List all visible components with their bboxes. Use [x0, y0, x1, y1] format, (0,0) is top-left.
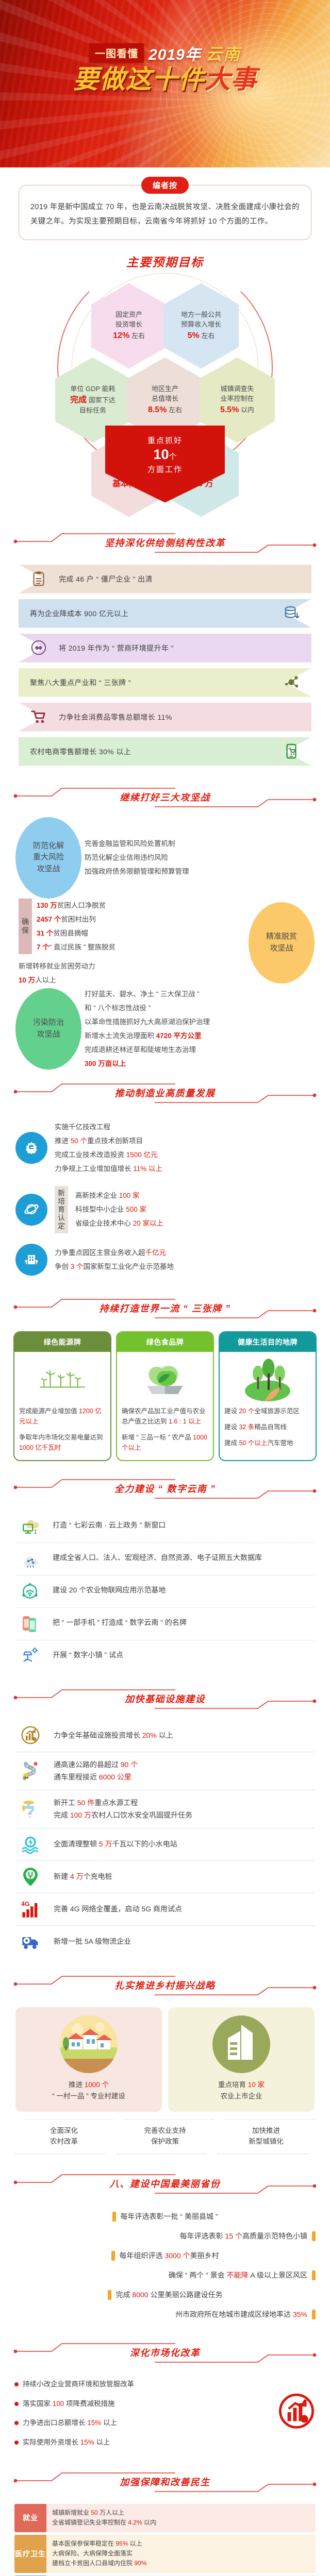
bullet-text: 州市政府所在地城市建成区绿地率达 35% — [175, 2309, 307, 2319]
table-row-key: 医疗卫生 — [14, 2535, 46, 2573]
brand-card-title: 绿色食品牌 — [117, 1332, 213, 1352]
bullet-row: 完成 8000 公里美丽公路建设任务 — [14, 2285, 316, 2304]
section-title: 持续打造世界一流 “ 三张牌 ” — [99, 1301, 230, 1315]
section-header: 坚持深化供给侧结构性改革 — [0, 528, 330, 560]
battle-line: 以革命性措施抓好九大高原湖泊保护治理 — [85, 1015, 311, 1029]
brand-card-body: 完成能源产业增加值 1200 亿元以上争取年内市场化交易电量达到 1000 亿千… — [14, 1401, 110, 1460]
battle-item: 防范化解重大风险攻坚战完善金融监管和风险处置机制防范化解企业信用违约风险加强政府… — [15, 817, 315, 899]
digital-row-icon — [15, 1550, 44, 1568]
section-title: 继续打好三大攻坚战 — [120, 790, 210, 804]
arrow-bar-icon — [19, 571, 59, 587]
section-s3: 推动制造业高质量发展实施千亿技改工程推进 50 个重点技术创新项目完成工业技术改… — [0, 1078, 330, 1286]
bullet-text: 完成 8000 公里美丽公路建设任务 — [116, 2290, 223, 2300]
infra-row-text: 力争全年基础设施投资增长 20% 以上 — [54, 1729, 173, 1742]
bullet-row: 确保 “ 两个 ” 景会 不能降 A 级以上景区风区 — [14, 2265, 316, 2285]
logistics-truck-icon — [21, 1932, 40, 1952]
section-s2: 继续打好三大攻坚战防范化解重大风险攻坚战完善金融监管和风险处置机制防范化解企业信… — [0, 782, 330, 1071]
bullet-row: 每年组织评选 3000 个美丽乡村 — [14, 2246, 316, 2265]
bullet-tick — [312, 2310, 316, 2319]
infra-list: 力争全年基础设施投资增长 20% 以上通高速公路的县超过 90 个通车里程接近 … — [0, 1719, 330, 1963]
battle-name: 精准脱贫攻坚战 — [266, 931, 297, 954]
digital-row: 打造 “ 七彩云南 · 云上政务 ” 新窗口 — [15, 1511, 315, 1543]
infra-row: 新开工 50 件重点水源工程完成 100 万农村人口饮水安全巩固提升任务 — [15, 1790, 315, 1828]
network-icon — [283, 674, 300, 691]
section-s6: 加快基础设施建设力争全年基础设施投资增长 20% 以上通高速公路的县超过 90 … — [0, 1684, 330, 1963]
section-header: 推动制造业高质量发展 — [0, 1078, 330, 1110]
clipboard-icon — [30, 571, 47, 587]
arrow-bar-icon — [271, 674, 311, 691]
digital-row: 开展 “ 数字小镇 ” 试点 — [15, 1640, 315, 1672]
brand-card-line: 完成能源产业增加值 1200 亿元以上 — [19, 1406, 106, 1427]
digital-row-icon — [15, 1647, 44, 1666]
battle-line: 打好蓝天、碧水、净土 “ 三大保卫战 ”和 “ 八个标志性战役 ” — [85, 987, 311, 1015]
battle-blob: 防范化解重大风险攻坚战 — [15, 817, 81, 899]
gear-row-body: 实施千亿技改工程推进 50 个重点技术创新项目完成工业技术改造投资 1500 亿… — [55, 1120, 162, 1176]
section-header: 八、建设中国最美丽省份 — [0, 2168, 330, 2200]
hero-place: 云南 — [206, 41, 241, 65]
reform-line: 力争进出口总额增长 15% 以上 — [14, 2413, 272, 2433]
section-s7: 扎实推进乡村振兴战略推进 1000 个“ 一村一品 ” 专业村建设重点培育 10… — [0, 1970, 330, 2162]
infra-row-icon — [15, 1761, 45, 1781]
arrow-bar-icon — [19, 709, 59, 725]
brand-card-line: 建设 20 个全域旅游示范区 — [224, 1406, 311, 1416]
goal-hex: 固定资产投资增长12% 左右 — [91, 283, 167, 369]
digital-row: 建成全省人口、法人、宏观经济、自然资源、电子证照五大数据库 — [15, 1543, 315, 1575]
table-cell: 城镇新增就业 50 万人以上 — [52, 2508, 310, 2518]
arrow-bar-text: 再为企业降成本 900 亿元以上 — [30, 608, 129, 619]
arrow-bar-item: 完成 46 户 “ 僵尸企业 ” 出清 — [19, 565, 311, 594]
section-header: 深化市场化改革 — [0, 2337, 330, 2369]
digital-row: 建设 20 个农业物联网应用示范基地 — [15, 1575, 315, 1608]
infra-row-text: 通高速公路的县超过 90 个通车里程接近 6000 公里 — [54, 1758, 138, 1784]
digital-row: 把 “ 一部手机 ” 打造成 “ 数字云南 ” 的名牌 — [15, 1608, 315, 1640]
digital-row-icon — [15, 1517, 44, 1536]
planet-icon — [23, 1201, 40, 1218]
rural-card: 重点培育 10 家农业上市企业 — [168, 2007, 315, 2112]
battle-blob: 污染防治攻坚战 — [15, 988, 81, 1070]
table-row: 医疗卫生基本医保参保率稳定在 95% 以上大病保险、大病保障全面落实建档立卡贫困… — [14, 2535, 316, 2573]
digital-row-text: 建成全省人口、法人、宏观经济、自然资源、电子证照五大数据库 — [53, 1550, 262, 1564]
section-s9: 深化市场化改革持续小改企业营商环境和放管服改革落实国家 100 项降费减税措施力… — [0, 2337, 330, 2459]
infra-row-text: 完善 4G 网络全覆盖，启动 5G 商用试点 — [54, 1903, 182, 1916]
svg-text:4G: 4G — [21, 1900, 29, 1907]
brand-card-line: 建设 32 条精品自驾线 — [224, 1422, 311, 1432]
brand-card: 健康生活目的地牌建设 20 个全域旅游示范区建设 32 条精品自驾线建成 50 … — [219, 1331, 317, 1461]
section-title: 八、建设中国最美丽省份 — [110, 2177, 221, 2190]
battle-blob: 精准脱贫攻坚战 — [249, 902, 315, 984]
three-cards: 绿色能源牌完成能源产业增加值 1200 亿元以上争取年内市场化交易电量达到 10… — [0, 1328, 330, 1466]
infra-row: 全面清理整顿 5 万千瓦以下的小水电站 — [15, 1828, 315, 1861]
arrow-bar-icon — [271, 743, 311, 760]
section-header: 全力建设 “ 数字云南 ” — [0, 1473, 330, 1505]
hero-banner: 一图看懂 2019年 云南 要做这十件大事 — [0, 0, 330, 167]
arrow-bar-text: 聚焦八大重点产业和 “ 三张牌 ” — [30, 677, 131, 688]
gear-row-icon — [15, 1194, 47, 1226]
brand-card-image — [220, 1352, 316, 1401]
cta-line3: 方面工作 — [105, 464, 225, 474]
table-row-key: 就业 — [14, 2504, 46, 2532]
battle-lines: 确保130 万贫困人口净脱贫2457 个贫困村出列31 个贫困县摘帽7 个“ 直… — [15, 899, 249, 987]
cta-line1: 重点抓好 — [105, 435, 225, 446]
gear-line: 力争规上工业增加值增长 11% 以上 — [55, 1162, 162, 1176]
battle-item: 污染防治攻坚战打好蓝天、碧水、净土 “ 三大保卫战 ”和 “ 八个标志性战役 ”… — [15, 987, 315, 1071]
gear-row-icon — [15, 1244, 47, 1276]
brand-card: 绿色食品牌确保农产品加工业产值与农业总产值之比达到 1.6 : 1 以上新增 “… — [116, 1331, 214, 1461]
gear-line: 争创 3 个国家新型工业化产业示范基地 — [55, 1260, 174, 1274]
section-s1: 坚持深化供给侧结构性改革完成 46 户 “ 僵尸企业 ” 出清再为企业降成本 9… — [0, 528, 330, 775]
arrow-bar-text: 力争社会消费品零售总额增长 11% — [59, 712, 172, 722]
agri-company-icon — [212, 2015, 270, 2073]
battle-lines: 完善金融监管和风险处置机制防范化解企业信用违约风险加强政府债务限额管理和预算管理 — [81, 837, 315, 878]
mobile-cart-icon — [283, 743, 300, 760]
brand-card-line: 建成 50 个以上汽车营地 — [224, 1438, 311, 1448]
iot-icon — [21, 1582, 39, 1601]
infra-row-icon — [15, 1867, 45, 1887]
arrow-bar-text: 将 2019 年作为 “ 营商环境提升年 ” — [59, 643, 174, 653]
confirm-line: 130 万贫困人口净脱贫 — [37, 899, 115, 912]
arrow-bar-icon — [271, 605, 311, 622]
reform-line: 实际使用外资增长 15% 以上 — [14, 2433, 272, 2452]
coins-icon — [283, 605, 300, 622]
table-row-value: 基本医保参保率稳定在 95% 以上大病保险、大病保障全面落实建档立卡贫困人口县域… — [46, 2535, 316, 2573]
hero-badge: 一图看懂 — [89, 43, 144, 63]
gear-line: 力争重点园区主营业务收入超千亿元 — [55, 1246, 174, 1260]
brand-card-title: 绿色能源牌 — [14, 1332, 110, 1352]
section-title: 深化市场化改革 — [130, 2346, 201, 2359]
digital-row-text: 建设 20 个农业物联网应用示范基地 — [53, 1582, 166, 1597]
confirm-line: 31 个贫困县摘帽 — [37, 926, 115, 940]
infra-row-text: 新增一批 5A 级物流企业 — [54, 1935, 131, 1948]
battle-name: 防范化解重大风险攻坚战 — [33, 840, 64, 875]
village-icon — [60, 2015, 118, 2073]
battle-extra: 新增转移就业贫困劳动力10 万人以上 — [19, 959, 245, 987]
digital-list: 打造 “ 七彩云南 · 云上政务 ” 新窗口建成全省人口、法人、宏观经济、自然资… — [0, 1509, 330, 1676]
signal-4g-icon: 4G — [21, 1900, 40, 1919]
battle-line: 完成退耕还林还草和陡坡地生态治理300 万亩以上 — [85, 1043, 311, 1071]
hero-year: 2019年 — [148, 42, 201, 64]
infra-row-icon — [15, 1835, 45, 1854]
gear-row-body: 力争重点园区主营业务收入超千亿元争创 3 个国家新型工业化产业示范基地 — [55, 1246, 174, 1274]
hydro-icon — [21, 1835, 40, 1854]
reform-block: 持续小改企业营商环境和放管服改革落实国家 100 项降费减税措施力争进出口总额增… — [0, 2372, 330, 2459]
gear-line: 科技型中小企业 500 家 — [75, 1202, 163, 1216]
infra-row-icon — [15, 1799, 45, 1819]
gear-line: 推进 50 个重点技术创新项目 — [55, 1134, 162, 1148]
cloud-monitor-icon — [21, 1517, 39, 1536]
bullet-row: 州市政府所在地城市建成区绿地率达 35% — [14, 2304, 316, 2324]
bullet-row: 每年评选表彰一批 “ 美丽县城 ” — [14, 2207, 316, 2226]
section-title: 加快基础设施建设 — [125, 1692, 205, 1705]
digital-row-icon — [15, 1582, 44, 1601]
gear-row: 力争重点园区主营业务收入超千亿元争创 3 个国家新型工业化产业示范基地 — [15, 1239, 315, 1281]
arrow-bar-item: 农村电商零售额增长 30% 以上 — [19, 737, 311, 766]
editor-note: 编者按 2019 年是新中国成立 70 年，也是云南决战脱贫攻坚、决胜全面建成小… — [19, 185, 311, 240]
arrow-bar-item: 聚焦八大重点产业和 “ 三张牌 ” — [19, 668, 311, 697]
section-s10: 加强保障和改善民生就业城镇新增就业 50 万人以上全省城镇登记失业率控制在 4.… — [0, 2467, 330, 2576]
charging-pin-icon — [21, 1867, 40, 1887]
building-icon — [23, 1251, 40, 1268]
bullet-text: 每年评选表彰 15 个高质量示范特色小镇 — [180, 2231, 307, 2241]
section-s8: 八、建设中国最美丽省份每年评选表彰一批 “ 美丽县城 ”每年评选表彰 15 个高… — [0, 2168, 330, 2330]
arrow-bar-item: 再为企业降成本 900 亿元以上 — [19, 599, 311, 628]
cta-count: 10 — [153, 447, 169, 462]
faucet-icon — [21, 1799, 40, 1819]
table-cell: 大病保险、大病保障全面落实 — [52, 2549, 310, 2558]
gear-row-body: 高新技术企业 100 家科技型中小企业 500 家省级企业技术中心 20 家以上 — [75, 1189, 163, 1230]
section-header: 扎实推进乡村振兴战略 — [0, 1970, 330, 2002]
bullet-list: 每年评选表彰一批 “ 美丽县城 ”每年评选表彰 15 个高质量示范特色小镇每年组… — [0, 2204, 330, 2330]
reform-lines: 持续小改企业营商环境和放管服改革落实国家 100 项降费减税措施力争进出口总额增… — [14, 2375, 272, 2452]
digital-row-icon — [15, 1615, 44, 1633]
bullet-tick — [108, 2290, 111, 2300]
gear-line: 高新技术企业 100 家 — [75, 1189, 163, 1202]
brand-card-body: 确保农产品加工业产值与农业总产值之比达到 1.6 : 1 以上新增 “ 三品一标… — [117, 1401, 213, 1460]
handshake-icon — [30, 640, 47, 656]
section-s5: 全力建设 “ 数字云南 ”打造 “ 七彩云南 · 云上政务 ” 新窗口建成全省人… — [0, 1473, 330, 1676]
wind-turbines-icon — [40, 1356, 85, 1401]
cloud-data-icon — [21, 1550, 39, 1568]
infra-row-icon — [15, 1726, 45, 1745]
rural-chip: 全面深化农村改革 — [15, 2119, 112, 2154]
table-row: 就业城镇新增就业 50 万人以上全省城镇登记失业率控制在 4.2% 以内 — [14, 2504, 316, 2532]
infra-row: 新建 4 万个充电桩 — [15, 1861, 315, 1893]
section-s4: 持续打造世界一流 “ 三张牌 ”绿色能源牌完成能源产业增加值 1200 亿元以上… — [0, 1293, 330, 1466]
battle-line: 完善金融监管和风险处置机制 — [85, 837, 311, 851]
brand-card-line: 争取年内市场化交易电量达到 1000 亿千瓦时 — [19, 1432, 106, 1453]
confirm-tab: 确保 — [19, 899, 32, 954]
cart-icon — [30, 709, 47, 725]
hero-headline-a: 要做这十件 — [73, 65, 205, 94]
battle-line: 新增水土流失治理面积 4720 平方公里 — [85, 1029, 311, 1043]
infographic-page: 一图看懂 2019年 云南 要做这十件大事 编者按 2019 年是新中国成立 7… — [0, 0, 330, 2576]
bullet-text: 每年评选表彰一批 “ 美丽县城 ” — [121, 2211, 218, 2222]
table-cell: 基本医保参保率稳定在 95% 以上 — [52, 2539, 310, 2549]
smart-town-icon — [21, 1647, 39, 1666]
goals-title: 主要预期目标 — [0, 252, 330, 270]
arrow-bar-item: 力争社会消费品零售总额增长 11% — [19, 703, 311, 732]
infra-row: 通高速公路的县超过 90 个通车里程接近 6000 公里 — [15, 1752, 315, 1790]
arrow-bar-list: 完成 46 户 “ 僵尸企业 ” 出清再为企业降成本 900 亿元以上将 201… — [0, 563, 330, 775]
gear-icon — [23, 1139, 40, 1157]
sections-container: 坚持深化供给侧结构性改革完成 46 户 “ 僵尸企业 ” 出清再为企业降成本 9… — [0, 528, 330, 2576]
rural-card-caption: 推进 1000 个“ 一村一品 ” 专业村建设 — [21, 2079, 157, 2103]
cta-unit: 个 — [169, 452, 177, 461]
rural-card-image — [212, 2015, 270, 2073]
section-title: 推动制造业高质量发展 — [115, 1086, 216, 1099]
infra-row: 4G完善 4G 网络全覆盖，启动 5G 商用试点 — [15, 1893, 315, 1926]
rural-chip: 完善农业支持保护政策 — [117, 2119, 213, 2154]
vegetables-icon — [142, 1356, 188, 1401]
reform-chart-icon — [277, 2393, 316, 2434]
rural-cards: 推进 1000 个“ 一村一品 ” 专业村建设重点培育 10 家农业上市企业 — [0, 2005, 330, 2119]
gear-row-tab: 新培育认定 — [55, 1186, 68, 1233]
highway-icon — [21, 1761, 40, 1781]
battles-list: 防范化解重大风险攻坚战完善金融监管和风险处置机制防范化解企业信用违约风险加强政府… — [0, 817, 330, 1071]
brand-card-image — [117, 1352, 213, 1401]
battle-line: 防范化解企业信用违约风险 — [85, 851, 311, 865]
section-title: 扎实推进乡村振兴战略 — [115, 1978, 216, 1992]
battle-lines: 打好蓝天、碧水、净土 “ 三大保卫战 ”和 “ 八个标志性战役 ”以革命性措施抓… — [81, 987, 315, 1071]
section-header: 加强保障和改善民生 — [0, 2467, 330, 2499]
livelihood-table: 就业城镇新增就业 50 万人以上全省城镇登记失业率控制在 4.2% 以内医疗卫生… — [0, 2502, 330, 2576]
section-title: 加强保障和改善民生 — [120, 2475, 210, 2488]
infra-row-text: 新开工 50 件重点水源工程完成 100 万农村人口饮水安全巩固提升任务 — [54, 1797, 192, 1822]
trees-icon — [245, 1356, 290, 1401]
table-row-value: 城镇新增就业 50 万人以上全省城镇登记失业率控制在 4.2% 以内 — [46, 2504, 316, 2532]
digital-row-text: 打造 “ 七彩云南 · 云上政务 ” 新窗口 — [53, 1517, 166, 1532]
hero-headline-b: 大事 — [205, 65, 257, 94]
growth-chart-icon — [21, 1726, 40, 1745]
goal-hex: 地方一般公共预算收入增长5% 左右 — [163, 283, 239, 369]
brand-card-body: 建设 20 个全域旅游示范区建设 32 条精品自驾线建成 50 个以上汽车营地 — [220, 1401, 316, 1455]
digital-row-text: 把 “ 一部手机 ” 打造成 “ 数字云南 ” 的名牌 — [53, 1615, 187, 1629]
brand-card-image — [14, 1352, 110, 1401]
bullet-tick — [112, 2212, 116, 2222]
arrow-bar-text: 农村电商零售额增长 30% 以上 — [30, 747, 131, 757]
infra-row-text: 全面清理整顿 5 万千瓦以下的小水电站 — [54, 1838, 177, 1851]
brand-card: 绿色能源牌完成能源产业增加值 1200 亿元以上争取年内市场化交易电量达到 10… — [13, 1331, 111, 1461]
gear-row: 实施千亿技改工程推进 50 个重点技术创新项目完成工业技术改造投资 1500 亿… — [15, 1115, 315, 1181]
bullet-text: 每年组织评选 3000 个美丽乡村 — [120, 2250, 219, 2261]
brand-card-title: 健康生活目的地牌 — [220, 1332, 316, 1352]
battle-line: 加强政府债务限额管理和预算管理 — [85, 865, 311, 878]
section-header: 持续打造世界一流 “ 三张牌 ” — [0, 1293, 330, 1325]
brand-card-line: 确保农产品加工业产值与农业总产值之比达到 1.6 : 1 以上 — [122, 1406, 208, 1427]
confirm-box: 确保130 万贫困人口净脱贫2457 个贫困村出列31 个贫困县摘帽7 个“ 直… — [19, 899, 245, 954]
two-phones-icon — [21, 1615, 39, 1633]
bullet-row: 每年评选表彰 15 个高质量示范特色小镇 — [14, 2226, 316, 2246]
battle-name: 污染防治攻坚战 — [33, 1017, 64, 1040]
goals-hex-row: 固定资产投资增长12% 左右地方一般公共预算收入增长5% 左右 — [57, 283, 273, 369]
main-goals: 主要预期目标 固定资产投资增长12% 左右地方一般公共预算收入增长5% 左右单位… — [0, 252, 330, 520]
confirm-line: 7 个“ 直过民族 ” 整族脱贫 — [37, 940, 115, 954]
bullet-tick — [312, 2270, 316, 2280]
arrow-bar-item: 将 2019 年作为 “ 营商环境提升年 ” — [19, 634, 311, 663]
infra-row-icon — [15, 1932, 45, 1952]
reform-line: 落实国家 100 项降费减税措施 — [14, 2394, 272, 2414]
table-cell: 建档立卡贫困人口县域内住院 90% — [52, 2558, 310, 2568]
rural-card-image — [60, 2015, 118, 2073]
section-header: 加快基础设施建设 — [0, 1684, 330, 1716]
bullet-tick — [312, 2231, 316, 2241]
table-cell: 全省城镇登记失业率控制在 4.2% 以内 — [52, 2518, 310, 2528]
gear-row-icon — [15, 1132, 47, 1164]
rural-card: 推进 1000 个“ 一村一品 ” 专业村建设 — [15, 2007, 162, 2112]
arrow-bar-text: 完成 46 户 “ 僵尸企业 ” 出清 — [59, 574, 153, 584]
infra-row: 力争全年基础设施投资增长 20% 以上 — [15, 1720, 315, 1752]
confirm-line: 2457 个贫困村出列 — [37, 912, 115, 926]
infra-row-text: 新建 4 万个充电桩 — [54, 1870, 112, 1883]
bullet-tick — [111, 2251, 115, 2261]
gear-list: 实施千亿技改工程推进 50 个重点技术创新项目完成工业技术改造投资 1500 亿… — [0, 1113, 330, 1286]
infra-row: 新增一批 5A 级物流企业 — [15, 1926, 315, 1958]
gear-line: 完成工业技术改造投资 1500 亿元 — [55, 1148, 162, 1162]
gear-line: 省级企业技术中心 20 家以上 — [75, 1216, 163, 1230]
battle-item: 精准脱贫攻坚战确保130 万贫困人口净脱贫2457 个贫困村出列31 个贫困县摘… — [15, 899, 315, 987]
gear-line: 实施千亿技改工程 — [55, 1120, 162, 1134]
rural-chip: 加快推进新型城镇化 — [218, 2119, 315, 2154]
infra-row-icon: 4G — [15, 1900, 45, 1919]
rural-chips: 全面深化农村改革完善农业支持保护政策加快推进新型城镇化 — [0, 2118, 330, 2161]
digital-row-text: 开展 “ 数字小镇 ” 试点 — [53, 1647, 123, 1662]
editor-badge: 编者按 — [141, 177, 189, 194]
rural-card-caption: 重点培育 10 家农业上市企业 — [173, 2079, 309, 2103]
reform-line: 持续小改企业营商环境和放管服改革 — [14, 2375, 272, 2394]
section-header: 继续打好三大攻坚战 — [0, 782, 330, 814]
bullet-text: 确保 “ 两个 ” 景会 不能降 A 级以上景区风区 — [169, 2270, 307, 2280]
section-title: 全力建设 “ 数字云南 ” — [114, 1482, 216, 1495]
brand-card-line: 新增 “ 三品一标 ” 农产品 1000 个以上 — [122, 1432, 208, 1453]
growth-chart-icon — [277, 2393, 316, 2431]
gear-row: 新培育认定高新技术企业 100 家科技型中小企业 500 家省级企业技术中心 2… — [15, 1181, 315, 1239]
arrow-bar-icon — [19, 640, 59, 656]
section-title: 坚持深化供给侧结构性改革 — [105, 536, 225, 549]
